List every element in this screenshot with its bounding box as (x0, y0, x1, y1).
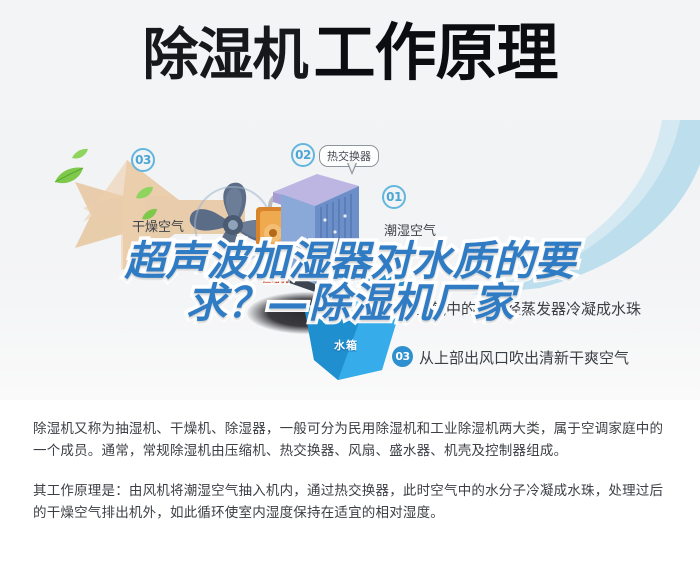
step-badge-02-heat-exchanger: 02 (291, 143, 315, 167)
page-title: 除湿机工作原理 (0, 22, 700, 84)
page-title-part1: 除湿机 (142, 23, 307, 88)
callout-tail-icon (347, 163, 357, 175)
article-paragraph-2: 其工作原理是：由风机将潮湿空气抽入机内，通过热交换器，此时空气中的水分子冷凝成水… (33, 480, 673, 524)
water-tank-label: 水箱 (334, 337, 358, 353)
process-line-03: 从上部出风口吹出清新干爽空气 (419, 347, 629, 368)
article-body: 除湿机又称为抽湿机、干燥机、除湿器，一般可分为民用除湿机和工业除湿机两大类，属于… (33, 418, 673, 524)
process-line-02: 空气中的水份经蒸发器冷凝成水珠 (416, 298, 641, 319)
step-badge-01-humid-air: 01 (382, 185, 406, 209)
step-label-dry-air: 干燥空气 (132, 216, 184, 235)
air-inlet-arrow-icon (352, 268, 408, 290)
infographic-banner: 除湿机工作原理 (0, 0, 700, 400)
page-root: 除湿机工作原理 (0, 0, 700, 566)
step-label-humid-air: 潮湿空气 (384, 220, 436, 239)
leaf-icon (136, 186, 154, 200)
compressor-label: 压缩机 (262, 274, 290, 285)
step-badge-03-dry-air: 03 (131, 148, 155, 172)
page-title-part2: 工作原理 (313, 16, 557, 89)
leaf-icon (72, 148, 88, 160)
article-paragraph-1: 除湿机又称为抽湿机、干燥机、除湿器，一般可分为民用除湿机和工业除湿机两大类，属于… (33, 418, 673, 462)
leaf-icon (54, 166, 84, 186)
process-badge-03: 03 (392, 346, 413, 367)
